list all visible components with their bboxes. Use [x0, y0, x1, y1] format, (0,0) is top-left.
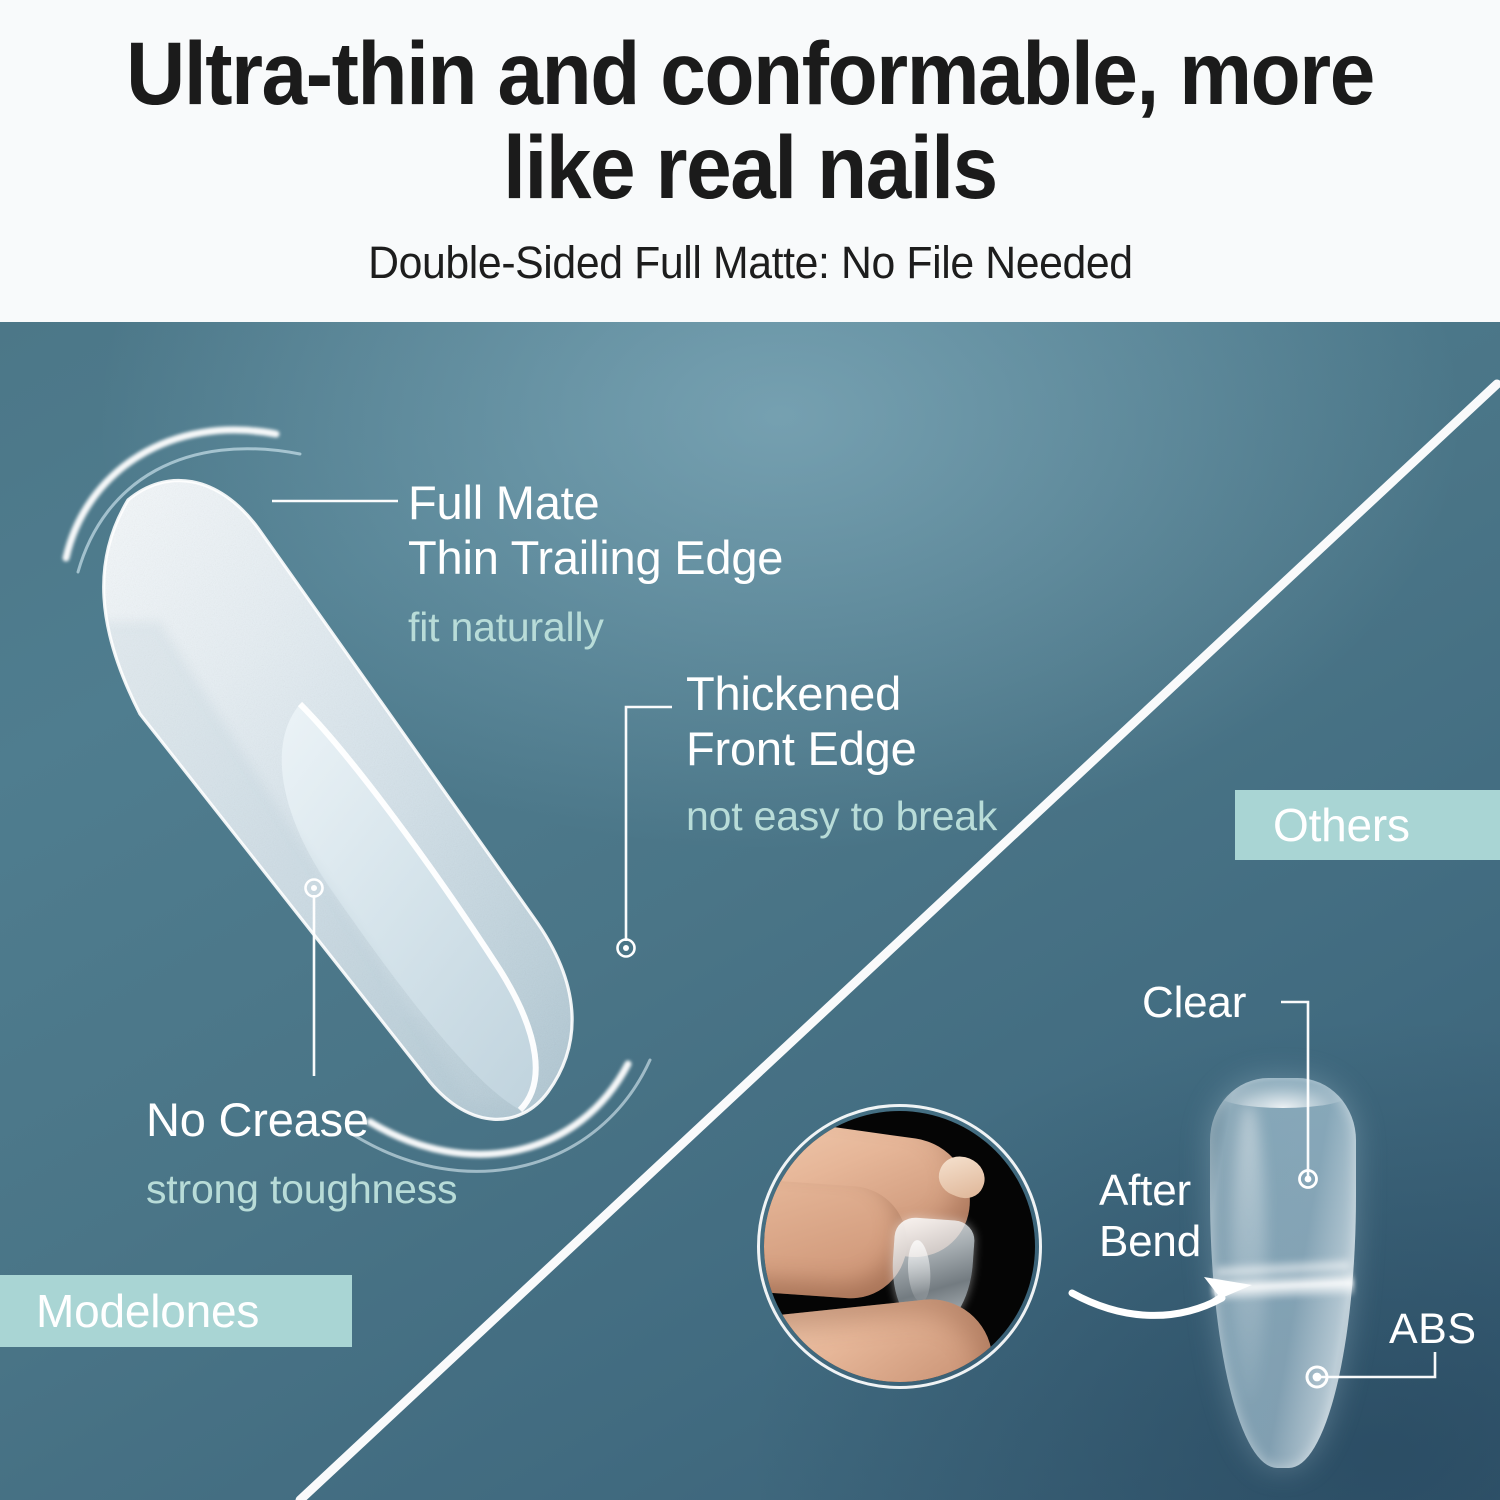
label-clear: Clear	[1142, 978, 1246, 1028]
header-section: Ultra-thin and conformable, more like re…	[0, 0, 1500, 322]
abs-nail-illustration	[1210, 1078, 1356, 1468]
callout-title-thickened-front-edge: Thickened Front Edge	[686, 667, 917, 777]
page-subtitle: Double-Sided Full Matte: No File Needed	[368, 237, 1133, 289]
brand-badge-others: Others	[1235, 790, 1500, 860]
callout-title-full-mate: Full Mate Thin Trailing Edge	[408, 476, 783, 586]
infographic-page: Ultra-thin and conformable, more like re…	[0, 0, 1500, 1500]
callout-title-no-crease: No Crease	[146, 1093, 369, 1148]
callout-subtitle-no-crease: strong toughness	[146, 1166, 457, 1213]
page-title: Ultra-thin and conformable, more like re…	[106, 26, 1394, 215]
callout-subtitle-full-mate: fit naturally	[408, 604, 604, 651]
brand-badge-modelones: Modelones	[0, 1275, 352, 1347]
label-abs-material: ABS	[1389, 1305, 1477, 1354]
bend-demo-photo	[757, 1104, 1042, 1389]
label-after-bend: After Bend	[1099, 1165, 1201, 1267]
abs-nail-edge	[1210, 1078, 1356, 1468]
callout-subtitle-thickened-front-edge: not easy to break	[686, 793, 997, 840]
photo-ring-border	[757, 1104, 1042, 1389]
